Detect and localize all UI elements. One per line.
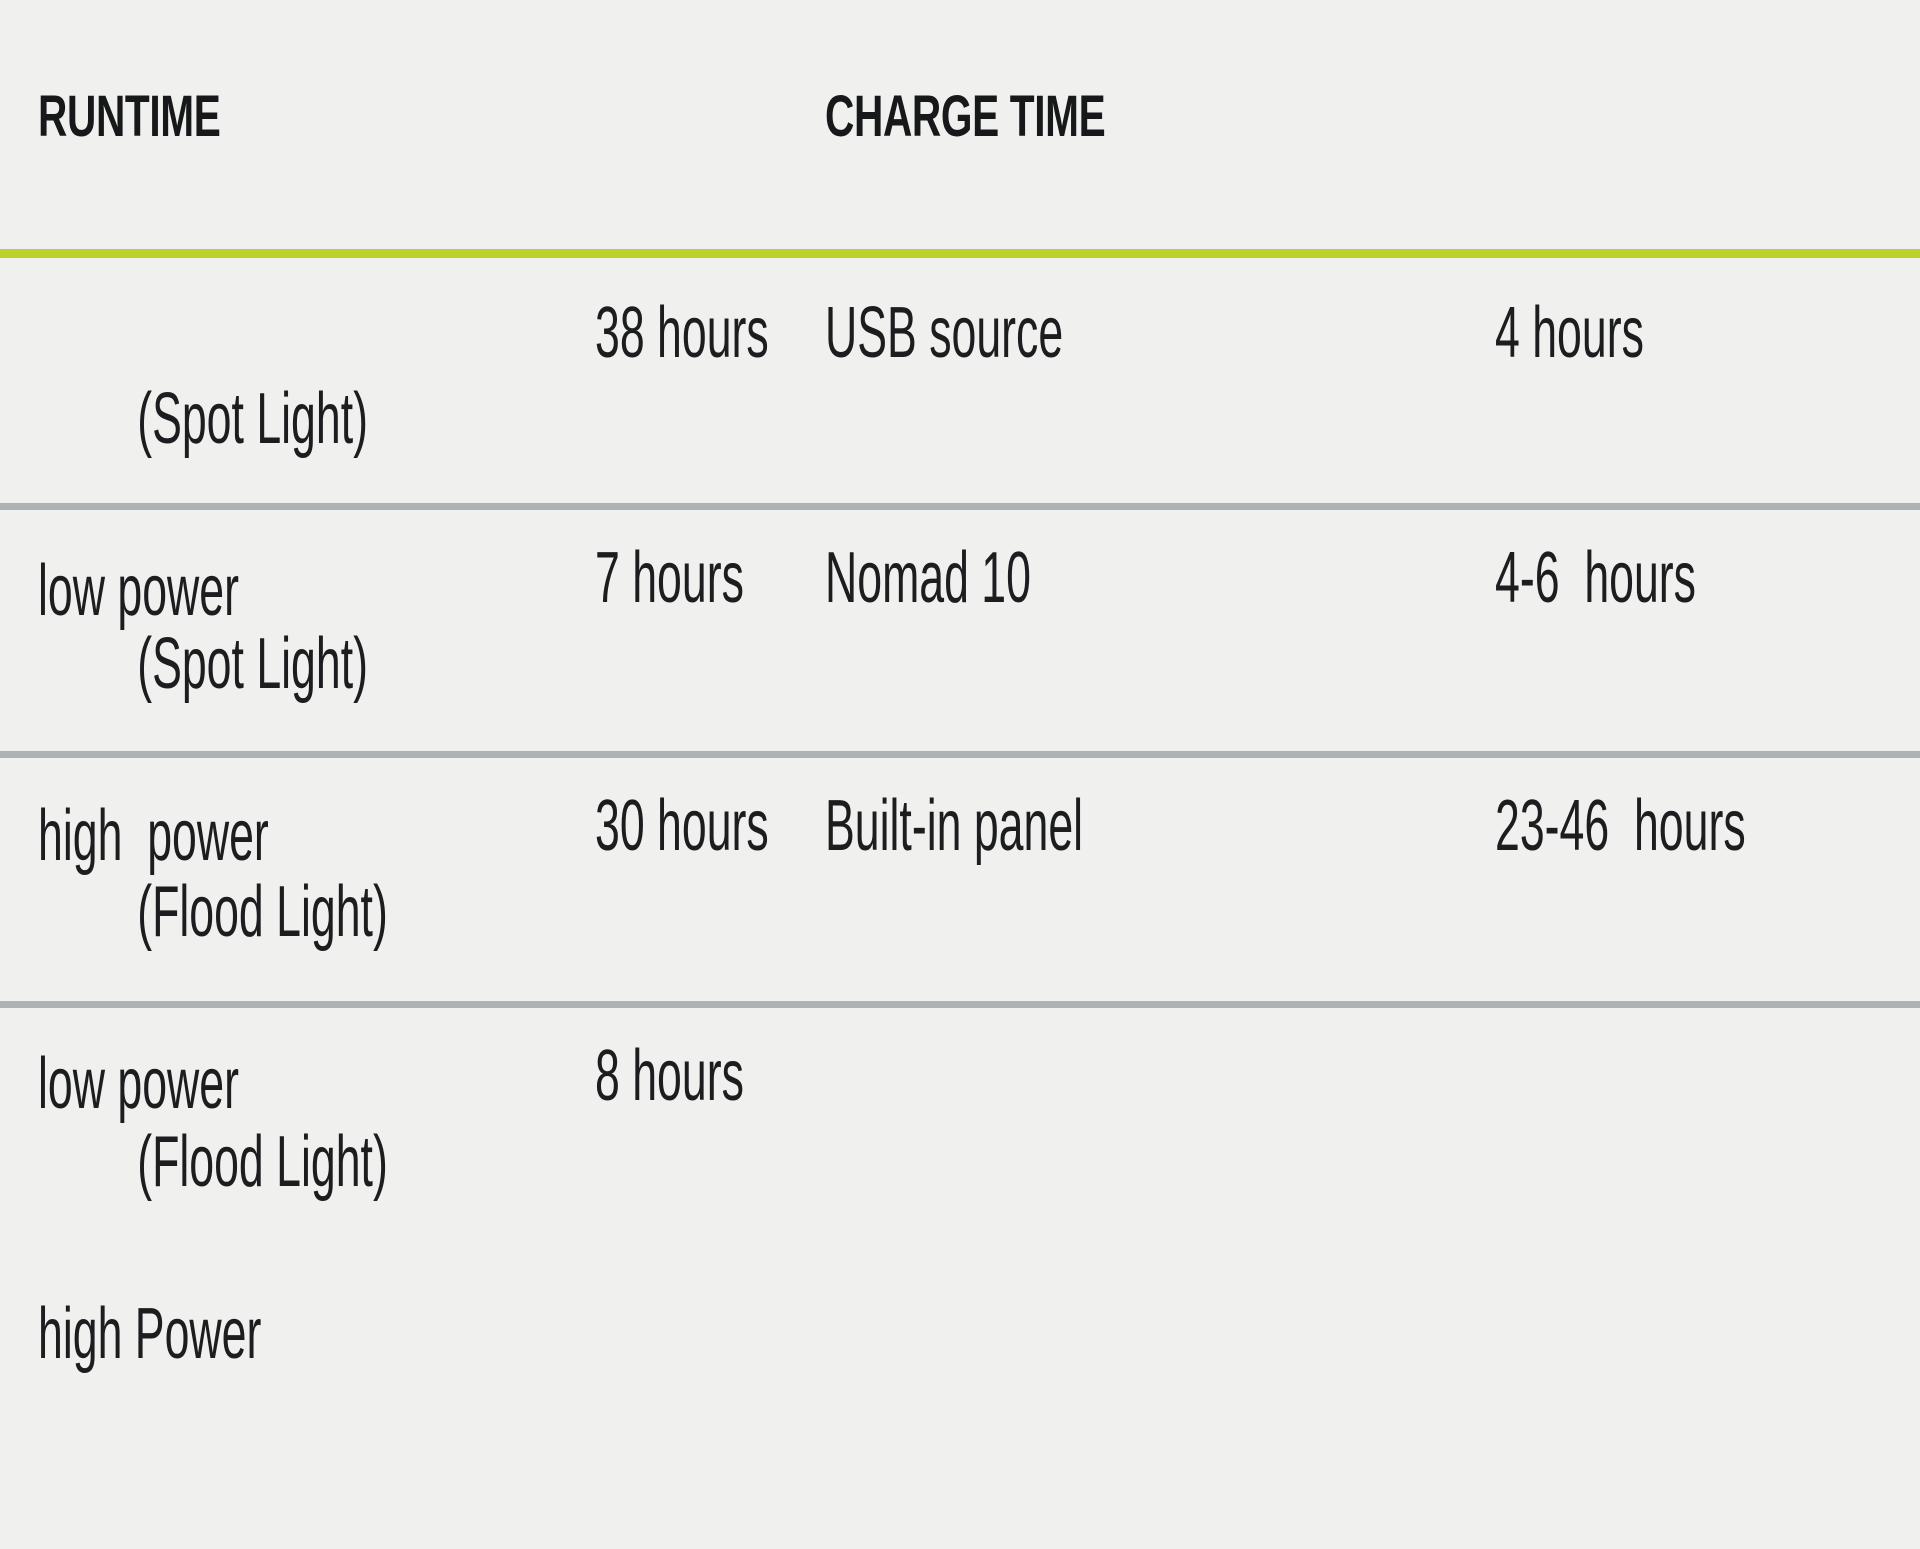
charge-time-value: 4 hours — [1495, 290, 1644, 376]
charge-source-label: Built-in panel — [825, 783, 1083, 869]
header-accent-rule — [0, 249, 1920, 258]
runtime-label-line1: (Spot Light) — [137, 624, 368, 704]
runtime-label: (Flood Light) high Power — [38, 1033, 388, 1549]
runtime-label-line1: (Flood Light) — [137, 872, 388, 952]
runtime-label-line1: (Spot Light) — [137, 379, 368, 459]
specification-table: RUNTIME CHARGE TIME (Spot Light) low pow… — [0, 0, 1920, 1280]
table-body: (Spot Light) low power 38 hours USB sour… — [0, 258, 1920, 1280]
column-header-charge-time: CHARGE TIME — [825, 88, 1105, 146]
charge-time-value: 23-46 hours — [1495, 783, 1746, 869]
runtime-label-line2: high Power — [38, 1291, 388, 1377]
column-header-runtime: RUNTIME — [38, 88, 220, 146]
charge-time-value: 4-6 hours — [1495, 535, 1696, 621]
runtime-value: 8 hours — [595, 1033, 744, 1119]
table-row: (Spot Light) low power 38 hours USB sour… — [0, 258, 1920, 503]
charge-source-label: USB source — [825, 290, 1063, 376]
table-row: (Flood Light) low power 30 hours Built-i… — [0, 751, 1920, 1001]
runtime-value: 7 hours — [595, 535, 744, 621]
runtime-value: 30 hours — [595, 783, 769, 869]
table-row: (Spot Light) high power 7 hours Nomad 10… — [0, 503, 1920, 751]
runtime-value: 38 hours — [595, 290, 769, 376]
charge-source-label: Nomad 10 — [825, 535, 1031, 621]
runtime-label-line1: (Flood Light) — [137, 1122, 388, 1202]
table-row: (Flood Light) high Power 8 hours — [0, 1001, 1920, 1280]
table-header-row: RUNTIME CHARGE TIME — [0, 0, 1920, 249]
